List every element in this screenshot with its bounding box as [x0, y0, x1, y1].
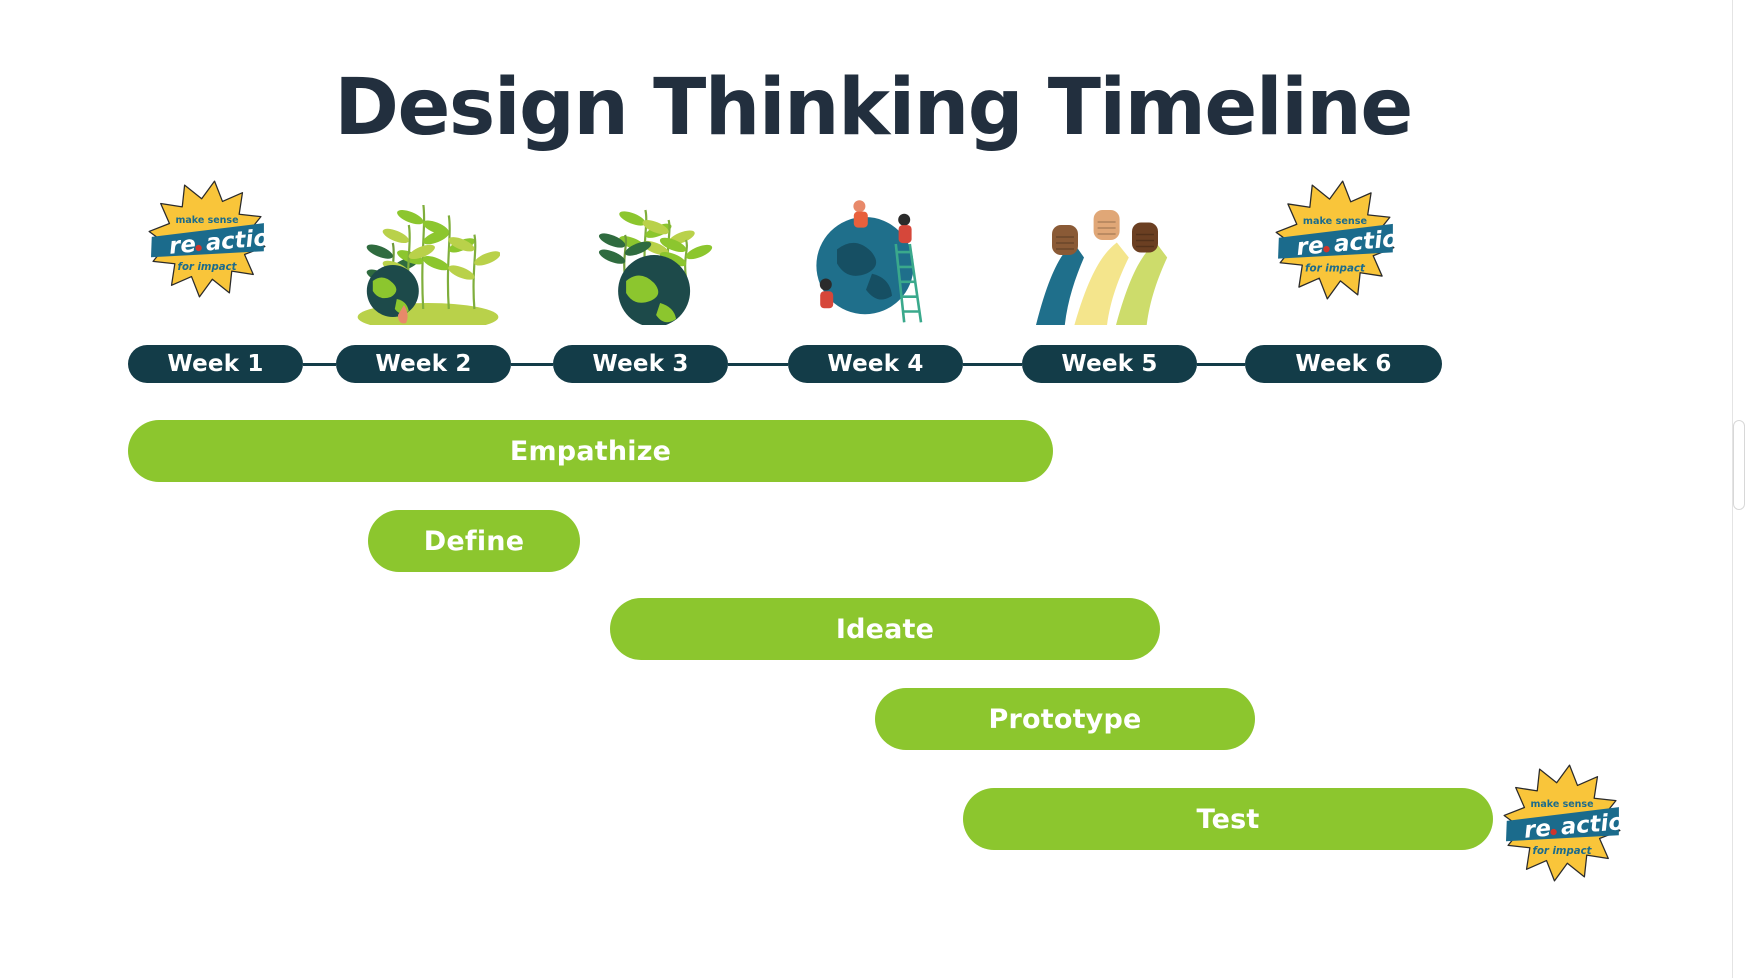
week-pill-5[interactable]: Week 5: [1022, 345, 1197, 383]
reaction-star-badge-week6: make sensereactionfor impact: [1267, 180, 1403, 300]
svg-text:make sense: make sense: [1530, 799, 1593, 810]
svg-text:for impact: for impact: [1305, 263, 1366, 275]
week-axis: Week 1Week 2Week 3Week 4Week 5Week 6: [0, 345, 1746, 387]
reaction-star-badge-week1: make sensereactionfor impact: [143, 180, 271, 298]
week-pill-3[interactable]: Week 3: [553, 345, 728, 383]
gantt-bar-label: Empathize: [510, 436, 671, 467]
week-pill-label: Week 6: [1295, 351, 1391, 377]
reaction-star-badge-test-end: make sensereactionfor impact: [1498, 764, 1626, 882]
illustration-row: make sensereactionfor impactmake sensere…: [0, 180, 1746, 330]
vertical-scrollbar-thumb[interactable]: [1733, 420, 1745, 510]
week-connector-3: [728, 363, 788, 366]
gantt-bar-ideate[interactable]: Ideate: [610, 598, 1160, 660]
week-pill-1[interactable]: Week 1: [128, 345, 303, 383]
svg-text:for impact: for impact: [1533, 846, 1593, 857]
vertical-scrollbar-track[interactable]: [1732, 0, 1746, 978]
gantt-bar-label: Define: [424, 526, 524, 557]
page-title: Design Thinking Timeline: [0, 64, 1746, 152]
svg-text:re: re: [1295, 232, 1324, 261]
gantt-chart: EmpathizeDefineIdeatePrototypeTest: [0, 420, 1746, 910]
globe-with-people-and-ladder: [795, 190, 935, 330]
week-pill-6[interactable]: Week 6: [1245, 345, 1442, 383]
gantt-bar-test[interactable]: Test: [963, 788, 1493, 850]
slide-canvas: Design Thinking Timeline make sensereact…: [0, 0, 1746, 978]
week-pill-label: Week 2: [375, 351, 471, 377]
globe-with-plants-meadow: [340, 205, 500, 330]
gantt-bar-prototype[interactable]: Prototype: [875, 688, 1255, 750]
week-pill-label: Week 3: [592, 351, 688, 377]
week-connector-1: [303, 363, 336, 366]
gantt-bar-label: Ideate: [836, 614, 934, 645]
gantt-bar-define[interactable]: Define: [368, 510, 580, 572]
gantt-bar-empathize[interactable]: Empathize: [128, 420, 1053, 482]
week-connector-4: [963, 363, 1022, 366]
week-connector-2: [511, 363, 553, 366]
week-pill-label: Week 5: [1061, 351, 1157, 377]
raised-fists-solidarity: [1020, 200, 1180, 330]
gantt-bar-label: Test: [1197, 804, 1260, 835]
week-pill-2[interactable]: Week 2: [336, 345, 511, 383]
week-pill-label: Week 1: [167, 351, 263, 377]
gantt-bar-label: Prototype: [988, 704, 1141, 735]
svg-text:re: re: [168, 231, 197, 259]
svg-text:make sense: make sense: [1303, 216, 1368, 227]
svg-text:for impact: for impact: [178, 262, 238, 273]
week-connector-5: [1197, 363, 1245, 366]
week-pill-4[interactable]: Week 4: [788, 345, 963, 383]
svg-text:make sense: make sense: [175, 215, 238, 226]
svg-text:re: re: [1523, 815, 1552, 843]
week-pill-label: Week 4: [827, 351, 923, 377]
globe-sprouting-plants: [570, 200, 715, 330]
